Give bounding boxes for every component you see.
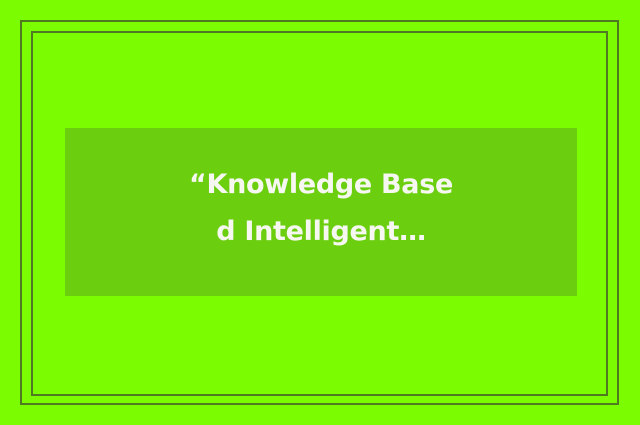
quote-line-1: “Knowledge Base (189, 161, 453, 208)
quote-text-block: “Knowledge Based Intelligent… (189, 161, 453, 255)
quote-panel: “Knowledge Based Intelligent… (65, 128, 577, 296)
quote-line-2: d Intelligent… (189, 208, 453, 255)
slide-canvas: “Knowledge Based Intelligent… (0, 0, 640, 425)
